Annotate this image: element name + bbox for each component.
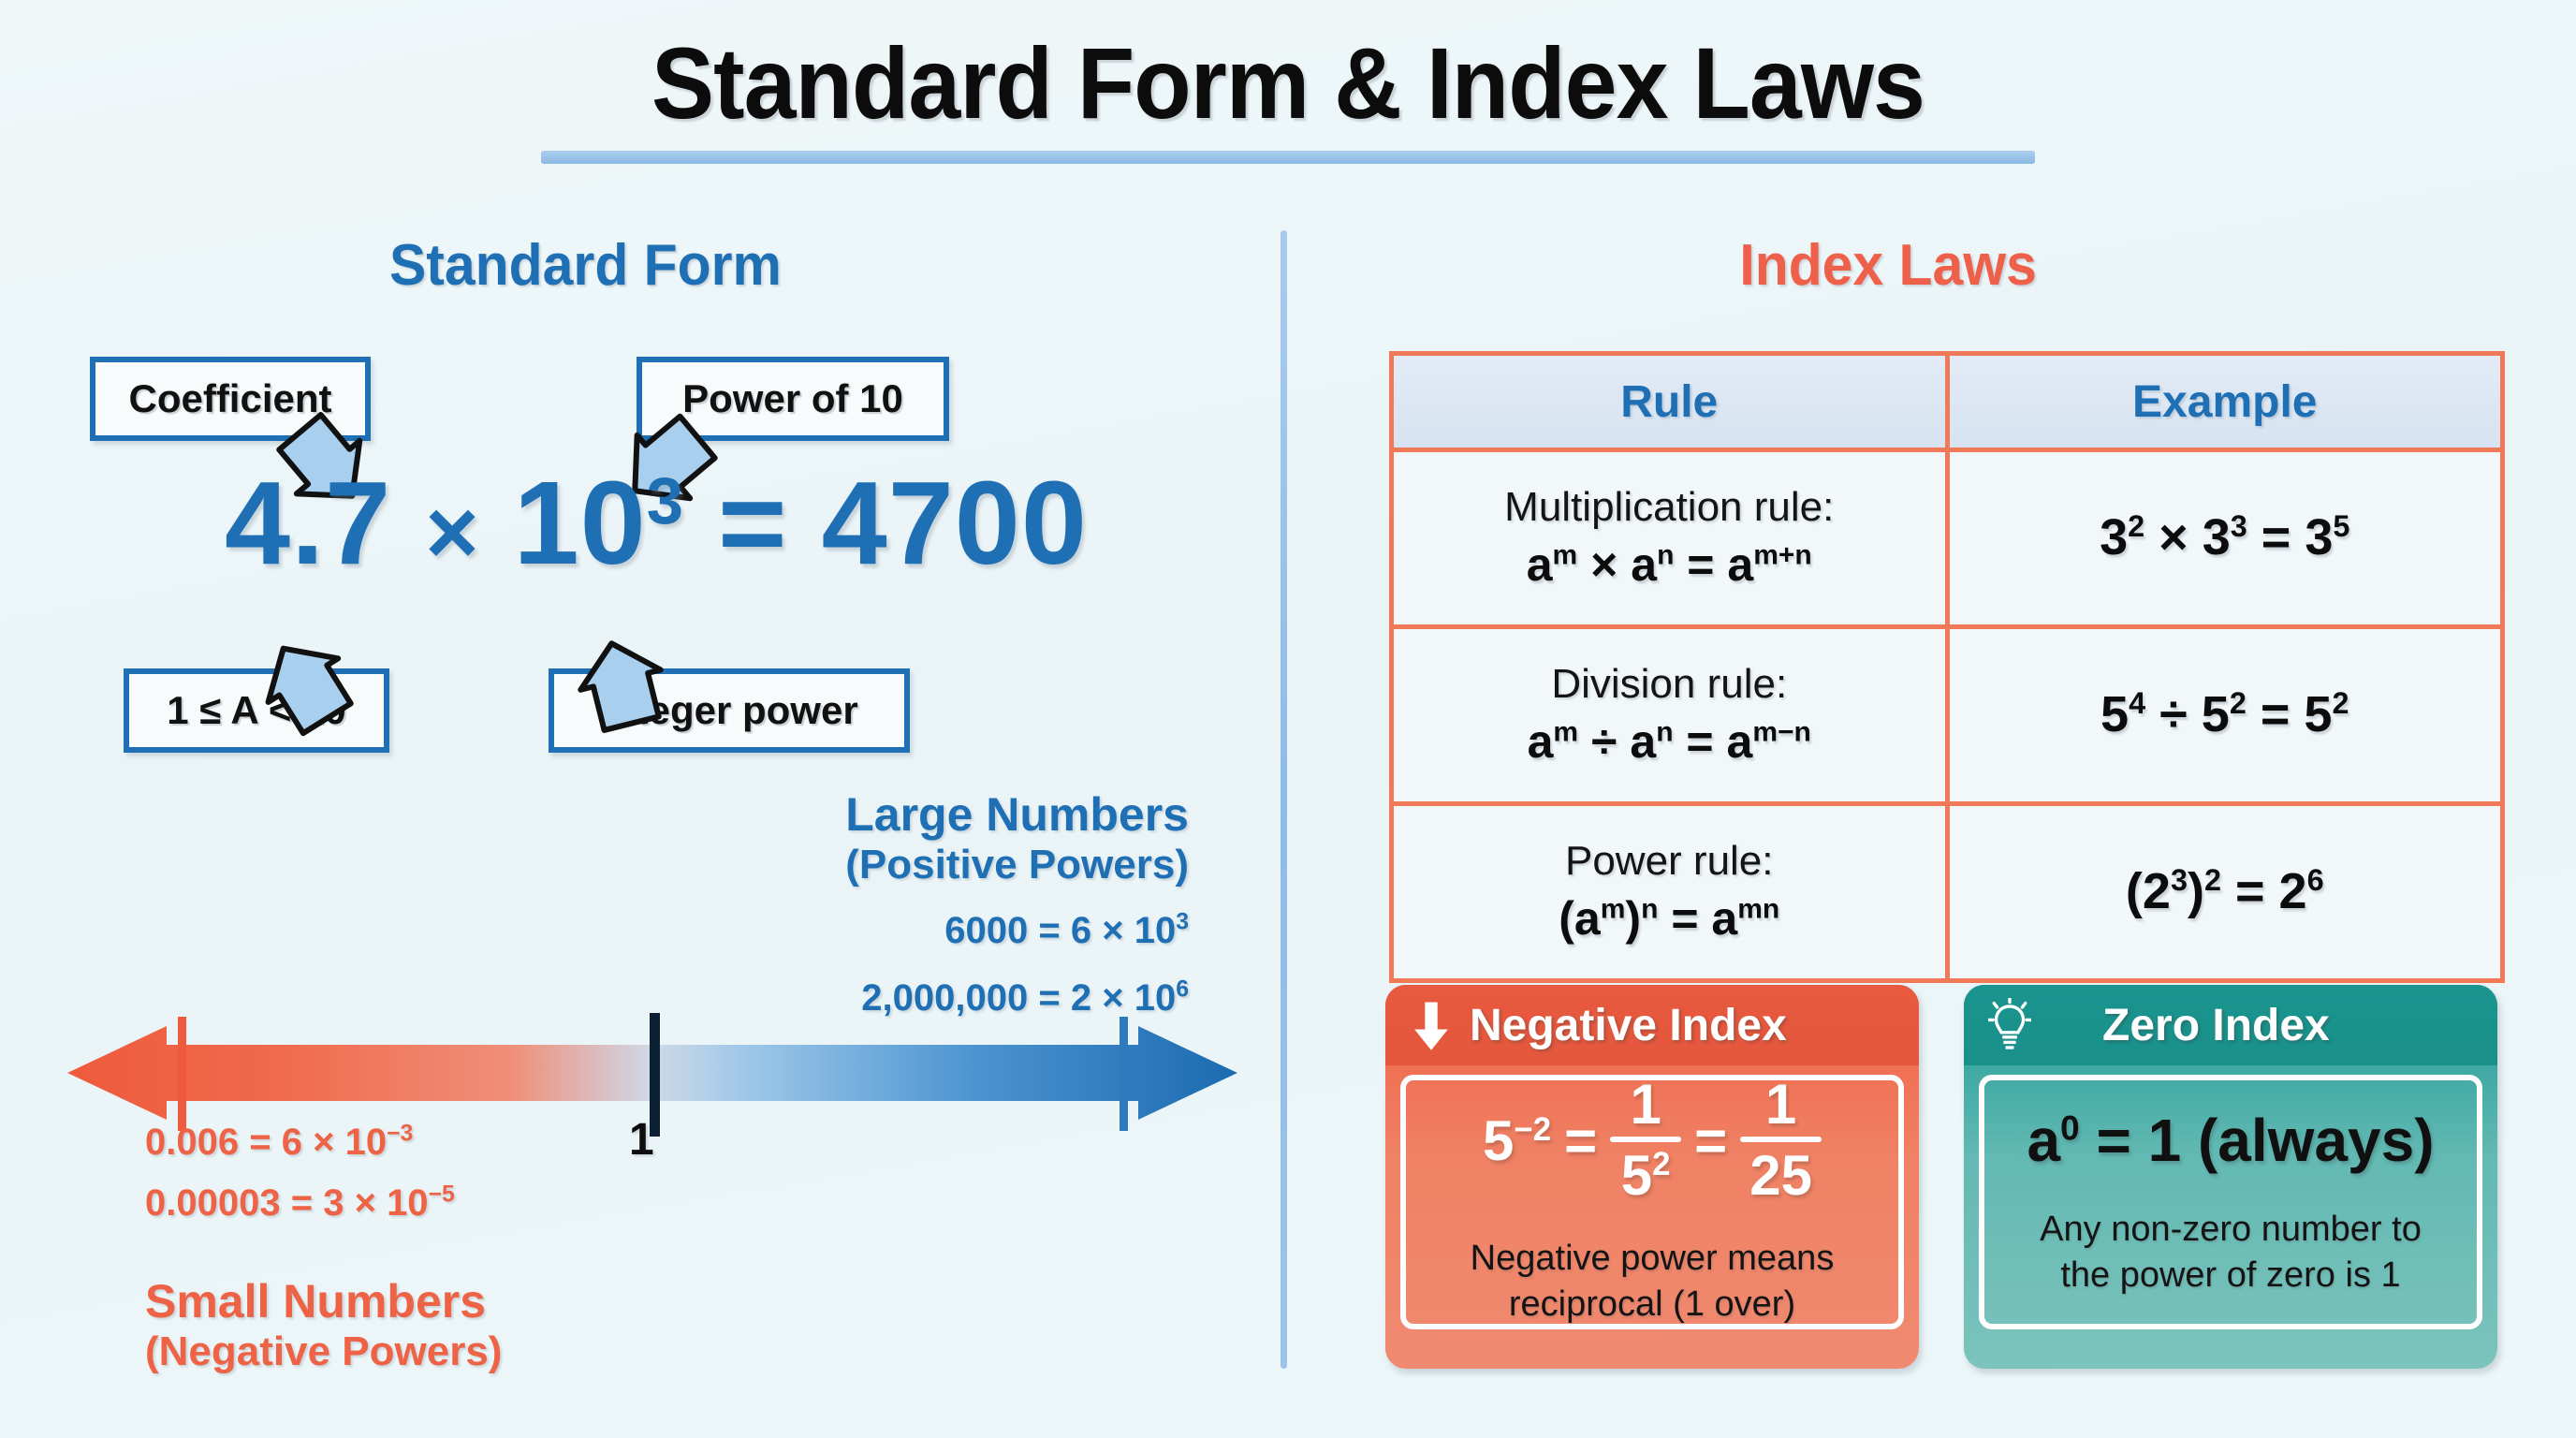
- zero-index-note-line1: Any non-zero number to: [2040, 1207, 2422, 1253]
- number-line-center-label: 1: [629, 1114, 654, 1166]
- small-example-2-coefficient: 3: [323, 1182, 344, 1224]
- table-row: Power rule: (am)n = amn (23)2 = 26: [1392, 804, 2503, 981]
- table-cell-rule-division: Division rule: am ÷ an = am−n: [1392, 627, 1948, 804]
- r0-res-exp: m+n: [1753, 540, 1812, 571]
- zero-index-note-line2: the power of zero is 1: [2040, 1253, 2422, 1299]
- title-block: Standard Form & Index Laws: [0, 30, 2576, 164]
- vertical-divider: [1281, 230, 1287, 1369]
- small-example-1-exponent: −3: [387, 1122, 413, 1147]
- down-arrow-icon: [1410, 998, 1453, 1052]
- large-example-2-times: ×: [1102, 977, 1123, 1019]
- rule-formula-division: am ÷ an = am−n: [1403, 713, 1936, 770]
- rule-example-division: 54 ÷ 52 = 52: [1959, 684, 2492, 746]
- neg-frac2-denominator: 25: [1740, 1142, 1822, 1204]
- e0-res-base: 3: [2305, 509, 2333, 565]
- table-cell-rule-multiplication: Multiplication rule: am × an = am+n: [1392, 450, 1948, 627]
- large-example-1-equals: =: [1038, 910, 1060, 951]
- zero-index-formula: a0 = 1 (always): [2027, 1106, 2434, 1175]
- e0-equals: =: [2261, 509, 2291, 565]
- section-heading-index-laws: Index Laws: [1739, 232, 2037, 299]
- negative-index-card: Negative Index 5−2 = 1 52 = 1 25 Negati: [1385, 985, 1919, 1369]
- zero-rest: = 1 (always): [2096, 1107, 2434, 1174]
- r0-mid-base: a: [1631, 538, 1657, 591]
- large-example-2-exponent: 6: [1176, 977, 1189, 1003]
- zero-index-note: Any non-zero number to the power of zero…: [2040, 1207, 2422, 1298]
- neg-frac1-numerator: 1: [1620, 1077, 1670, 1137]
- table-header-example: Example: [1947, 354, 2503, 450]
- large-example-2-base: 10: [1134, 977, 1177, 1019]
- callout-power-of-10: Power of 10: [637, 357, 949, 441]
- callout-coefficient-range: 1 ≤ A < 10: [124, 668, 389, 753]
- section-heading-standard-form: Standard Form: [389, 232, 782, 299]
- r2-res-base: a: [1711, 892, 1737, 945]
- large-example-2-equals: =: [1038, 977, 1060, 1019]
- e0-left-base: 3: [2100, 509, 2128, 565]
- equation-coefficient: 4.7: [225, 457, 391, 589]
- r0-res-base: a: [1727, 538, 1753, 591]
- table-cell-rule-power: Power rule: (am)n = amn: [1392, 804, 1948, 981]
- table-row: Division rule: am ÷ an = am−n 54 ÷ 52 =: [1392, 627, 2503, 804]
- e0-mid-base: 3: [2203, 509, 2231, 565]
- equation-base: 10: [514, 457, 647, 589]
- zero-index-card: Zero Index a0 = 1 (always) Any non-zero …: [1964, 985, 2497, 1369]
- e1-mid-base: 5: [2202, 686, 2230, 742]
- e0-mid-exp: 3: [2231, 509, 2247, 543]
- e2-outer-exp: 2: [2204, 863, 2221, 897]
- e0-res-exp: 5: [2333, 509, 2349, 543]
- r2-res-exp: mn: [1737, 894, 1779, 925]
- small-example-1-coefficient: 6: [282, 1122, 302, 1163]
- e2-base: 2: [2143, 863, 2171, 919]
- e2-res-exp: 6: [2307, 863, 2324, 897]
- small-example-1-times: ×: [313, 1122, 334, 1163]
- title-underline: [541, 151, 2035, 164]
- e2-open: (: [2126, 863, 2143, 919]
- negative-index-note-line1: Negative power means: [1471, 1236, 1835, 1282]
- r2-equals: =: [1671, 892, 1698, 945]
- r2-outer-exp: n: [1641, 894, 1658, 925]
- r1-mid-exp: n: [1656, 717, 1673, 748]
- r1-mid-base: a: [1630, 715, 1656, 768]
- e2-equals: =: [2235, 863, 2265, 919]
- neg-frac1-denominator: 52: [1612, 1142, 1680, 1204]
- e2-inner-exp: 3: [2171, 863, 2188, 897]
- large-example-2-coefficient: 2: [1071, 977, 1091, 1019]
- small-number-example-1: 0.006 = 6 × 10−3: [145, 1112, 502, 1173]
- large-numbers-title: Large Numbers: [599, 788, 1189, 841]
- table-cell-example-power: (23)2 = 26: [1947, 804, 2503, 981]
- r0-left-base: a: [1527, 538, 1553, 591]
- standard-form-equation: 4.7 × 103 = 4700: [225, 455, 1088, 591]
- large-example-1-coefficient: 6: [1071, 910, 1091, 951]
- r1-op: ÷: [1591, 715, 1617, 768]
- table-cell-example-multiplication: 32 × 33 = 35: [1947, 450, 2503, 627]
- e2-res-base: 2: [2279, 863, 2307, 919]
- number-line-tick-right: [1120, 1017, 1128, 1131]
- table-cell-example-division: 54 ÷ 52 = 52: [1947, 627, 2503, 804]
- small-example-1-equals: =: [249, 1122, 271, 1163]
- rule-name-multiplication: Multiplication rule:: [1403, 483, 1936, 532]
- small-example-1-base: 10: [345, 1122, 388, 1163]
- r1-res-exp: m−n: [1752, 717, 1811, 748]
- small-example-2-base: 10: [387, 1182, 429, 1224]
- r0-equals: =: [1687, 538, 1714, 591]
- callout-coefficient: Coefficient: [90, 357, 371, 441]
- table-row: Multiplication rule: am × an = am+n 32 ×…: [1392, 450, 2503, 627]
- neg-base: 5: [1483, 1109, 1514, 1172]
- neg-frac1-den-base: 5: [1621, 1144, 1652, 1207]
- r0-op: ×: [1590, 538, 1617, 591]
- large-numbers-subtitle: (Positive Powers): [599, 841, 1189, 890]
- e1-left-exp: 4: [2129, 686, 2145, 720]
- table-header-rule: Rule: [1392, 354, 1948, 450]
- rule-example-power: (23)2 = 26: [1959, 861, 2492, 923]
- negative-index-card-header: Negative Index: [1385, 985, 1919, 1065]
- zero-index-card-header: Zero Index: [1964, 985, 2497, 1065]
- neg-base-group: 5−2: [1483, 1108, 1551, 1173]
- neg-frac1-den-exp: 2: [1652, 1146, 1670, 1182]
- large-example-2-value: 2,000,000: [861, 977, 1028, 1019]
- e1-res-exp: 2: [2332, 686, 2349, 720]
- small-number-example-2: 0.00003 = 3 × 10−5: [145, 1173, 502, 1234]
- large-example-1-times: ×: [1102, 910, 1123, 951]
- page-title: Standard Form & Index Laws: [90, 30, 2485, 136]
- small-numbers-block: 0.006 = 6 × 10−3 0.00003 = 3 × 10−5 Smal…: [145, 1112, 502, 1376]
- callout-integer-power: integer power: [549, 668, 910, 753]
- rule-example-multiplication: 32 × 33 = 35: [1959, 507, 2492, 569]
- equation-result: 4700: [822, 457, 1088, 589]
- e1-mid-exp: 2: [2230, 686, 2247, 720]
- e0-left-exp: 2: [2128, 509, 2144, 543]
- r1-left-base: a: [1528, 715, 1554, 768]
- equation-exponent: 3: [647, 463, 684, 537]
- table-header-row: Rule Example: [1392, 354, 2503, 450]
- neg-frac2-numerator: 1: [1756, 1077, 1806, 1137]
- equation-times-symbol: ×: [425, 480, 479, 583]
- zero-index-card-title: Zero Index: [2102, 1000, 2330, 1051]
- large-number-example-2: 2,000,000 = 2 × 106: [599, 971, 1189, 1025]
- small-example-1-value: 0.006: [145, 1122, 239, 1163]
- negative-index-note: Negative power means reciprocal (1 over): [1471, 1236, 1835, 1327]
- e1-res-base: 5: [2304, 686, 2332, 742]
- negative-index-formula: 5−2 = 1 52 = 1 25: [1483, 1077, 1822, 1204]
- large-example-1-exponent: 3: [1176, 909, 1189, 934]
- neg-equals-1: =: [1564, 1108, 1597, 1173]
- negative-index-note-line2: reciprocal (1 over): [1471, 1282, 1835, 1328]
- r1-res-base: a: [1727, 715, 1753, 768]
- r2-open: (: [1559, 892, 1574, 945]
- small-example-2-value: 0.00003: [145, 1182, 281, 1224]
- lightbulb-icon: [1988, 998, 2031, 1052]
- large-example-1-base: 10: [1134, 910, 1177, 951]
- infographic-poster: Standard Form & Index Laws Standard Form…: [0, 0, 2576, 1438]
- r2-base: a: [1574, 892, 1601, 945]
- large-number-example-1: 6000 = 6 × 103: [599, 903, 1189, 958]
- number-line-arrow-icon: [67, 1026, 1237, 1120]
- neg-fraction-1: 1 52: [1610, 1077, 1681, 1204]
- r2-close: ): [1625, 892, 1641, 945]
- equation-equals: =: [718, 457, 788, 589]
- small-numbers-subtitle: (Negative Powers): [145, 1328, 502, 1377]
- zero-base: a: [2027, 1107, 2060, 1174]
- negative-index-card-title: Negative Index: [1470, 1000, 1787, 1051]
- rule-formula-power: (am)n = amn: [1403, 890, 1936, 947]
- r0-left-exp: m: [1553, 540, 1578, 571]
- neg-exp: −2: [1514, 1111, 1551, 1148]
- r0-mid-exp: n: [1657, 540, 1674, 571]
- rule-name-division: Division rule:: [1403, 660, 1936, 709]
- small-example-2-times: ×: [355, 1182, 376, 1224]
- e1-equals: =: [2261, 686, 2291, 742]
- small-numbers-title: Small Numbers: [145, 1275, 502, 1328]
- e1-left-base: 5: [2100, 686, 2129, 742]
- index-laws-table: Rule Example Multiplication rule: am × a…: [1389, 351, 2505, 983]
- neg-equals-2: =: [1694, 1108, 1727, 1173]
- large-example-1-value: 6000: [944, 910, 1028, 951]
- e0-op: ×: [2159, 509, 2188, 565]
- r1-equals: =: [1686, 715, 1713, 768]
- neg-fraction-2: 1 25: [1740, 1077, 1822, 1204]
- r2-inner-exp: m: [1601, 894, 1626, 925]
- small-example-2-exponent: −5: [429, 1181, 455, 1207]
- negative-index-card-body: 5−2 = 1 52 = 1 25 Negative power means r…: [1400, 1075, 1904, 1329]
- zero-index-card-body: a0 = 1 (always) Any non-zero number to t…: [1979, 1075, 2482, 1329]
- small-example-2-equals: =: [291, 1182, 313, 1224]
- r1-left-exp: m: [1553, 717, 1578, 748]
- e2-close: ): [2188, 863, 2204, 919]
- large-numbers-block: Large Numbers (Positive Powers) 6000 = 6…: [599, 788, 1189, 1026]
- rule-name-power: Power rule:: [1403, 837, 1936, 886]
- e1-op: ÷: [2159, 686, 2188, 742]
- zero-exp: 0: [2060, 1108, 2080, 1148]
- rule-formula-multiplication: am × an = am+n: [1403, 536, 1936, 594]
